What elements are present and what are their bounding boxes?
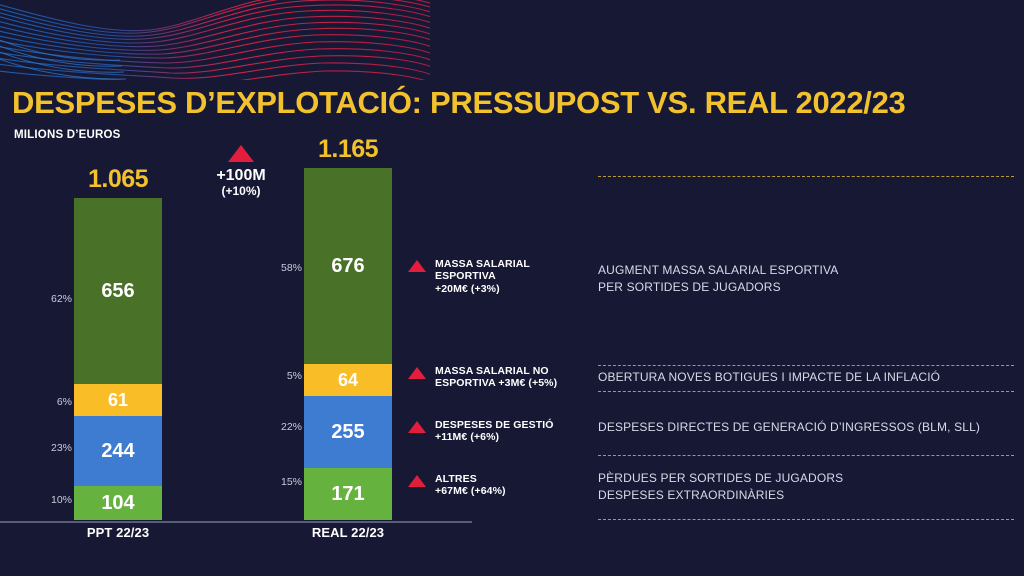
note-line-1: AUGMENT MASSA SALARIAL ESPORTIVA — [598, 262, 838, 279]
bar-segment-real-despeses-de-gestio[interactable]: 255 — [304, 396, 392, 468]
legend-line-2: +67M€ (+64%) — [435, 485, 506, 497]
bar-segment-real-massa-salarial-esportiva[interactable]: 676 — [304, 168, 392, 364]
legend-line-2: ESPORTIVA +3M€ (+5%) — [435, 377, 557, 389]
legend-line-2: +11M€ (+6%) — [435, 431, 554, 443]
note-line-2: PER SORTIDES DE JUGADORS — [598, 279, 838, 296]
legend-line-1: MASSA SALARIAL NO — [435, 365, 557, 377]
bar-total-ppt: 1.065 — [48, 165, 188, 194]
divider-top — [598, 176, 1014, 177]
note-line-1: OBERTURA NOVES BOTIGUES I IMPACTE DE LA … — [598, 369, 940, 386]
pct-label-real-despeses-de-gestio: 22% — [248, 421, 302, 433]
pct-label-ppt-altres: 10% — [18, 494, 72, 506]
segment-value: 64 — [338, 370, 358, 391]
segment-value: 244 — [101, 440, 134, 463]
triangle-up-icon — [228, 145, 254, 162]
legend-item-massa-salarial-no-esportiva[interactable]: MASSA SALARIAL NO ESPORTIVA +3M€ (+5%) — [408, 365, 557, 390]
bar-segment-real-altres[interactable]: 171 — [304, 468, 392, 520]
note-line-2: DESPESES EXTRAORDINÀRIES — [598, 487, 843, 504]
bar-real[interactable]: 676 64 255 171 — [304, 168, 392, 520]
legend-item-altres[interactable]: ALTRES +67M€ (+64%) — [408, 473, 506, 498]
triangle-up-icon — [408, 260, 426, 272]
legend-line-2: ESPORTIVA — [435, 270, 530, 282]
slide-root: DESPESES D’EXPLOTACIÓ: PRESSUPOST VS. RE… — [0, 0, 1024, 576]
segment-value: 676 — [331, 255, 364, 278]
bar-segment-ppt-altres[interactable]: 104 — [74, 486, 162, 520]
legend-line-1: DESPESES DE GESTIÓ — [435, 419, 554, 431]
bar-segment-ppt-massa-salarial-no-esportiva[interactable]: 61 — [74, 384, 162, 416]
pct-label-real-altres: 15% — [248, 476, 302, 488]
legend-item-despeses-de-gestio[interactable]: DESPESES DE GESTIÓ +11M€ (+6%) — [408, 419, 554, 444]
bar-segment-ppt-massa-salarial-esportiva[interactable]: 656 — [74, 198, 162, 384]
bar-segment-ppt-despeses-de-gestio[interactable]: 244 — [74, 416, 162, 486]
divider-below-botigues — [598, 391, 1014, 392]
note-perdues-sortides: PÈRDUES PER SORTIDES DE JUGADORS DESPESE… — [598, 470, 843, 504]
pct-label-ppt-despeses-de-gestio: 23% — [18, 442, 72, 454]
stacked-bar-chart: 1.065 656 61 244 104 62% 6% 23% 10% PPT … — [0, 0, 1024, 576]
triangle-up-icon — [408, 475, 426, 487]
x-axis-label-real: REAL 22/23 — [268, 525, 428, 540]
divider-bottom — [598, 519, 1014, 520]
x-axis-line — [0, 521, 472, 523]
bar-total-real: 1.165 — [278, 135, 418, 164]
note-despeses-directes: DESPESES DIRECTES DE GENERACIÓ D’INGRESS… — [598, 419, 980, 436]
segment-value: 171 — [331, 483, 364, 506]
segment-value: 656 — [101, 280, 134, 303]
legend-line-1: MASSA SALARIAL — [435, 258, 530, 270]
legend-line-3: +20M€ (+3%) — [435, 283, 530, 295]
bar-ppt[interactable]: 656 61 244 104 — [74, 198, 162, 520]
pct-label-real-massa-salarial-esportiva: 58% — [248, 262, 302, 274]
x-axis-label-ppt: PPT 22/23 — [38, 525, 198, 540]
triangle-up-icon — [408, 367, 426, 379]
segment-value: 255 — [331, 421, 364, 444]
pct-label-real-massa-salarial-no-esportiva: 5% — [248, 370, 302, 382]
note-massa-salarial-esportiva: AUGMENT MASSA SALARIAL ESPORTIVA PER SOR… — [598, 262, 838, 296]
segment-value: 104 — [101, 492, 134, 515]
segment-value: 61 — [108, 390, 128, 411]
delta-value: +100M — [183, 168, 299, 185]
delta-percent: (+10%) — [183, 185, 299, 198]
legend-item-massa-salarial-esportiva[interactable]: MASSA SALARIAL ESPORTIVA +20M€ (+3%) — [408, 258, 530, 295]
note-line-1: DESPESES DIRECTES DE GENERACIÓ D’INGRESS… — [598, 419, 980, 436]
pct-label-ppt-massa-salarial-esportiva: 62% — [18, 293, 72, 305]
divider-above-perdues — [598, 455, 1014, 456]
note-obertura-noves-botigues: OBERTURA NOVES BOTIGUES I IMPACTE DE LA … — [598, 369, 940, 386]
pct-label-ppt-massa-salarial-no-esportiva: 6% — [18, 396, 72, 408]
triangle-up-icon — [408, 421, 426, 433]
divider-above-botigues — [598, 365, 1014, 366]
bar-segment-real-massa-salarial-no-esportiva[interactable]: 64 — [304, 364, 392, 396]
legend-line-1: ALTRES — [435, 473, 506, 485]
note-line-1: PÈRDUES PER SORTIDES DE JUGADORS — [598, 470, 843, 487]
